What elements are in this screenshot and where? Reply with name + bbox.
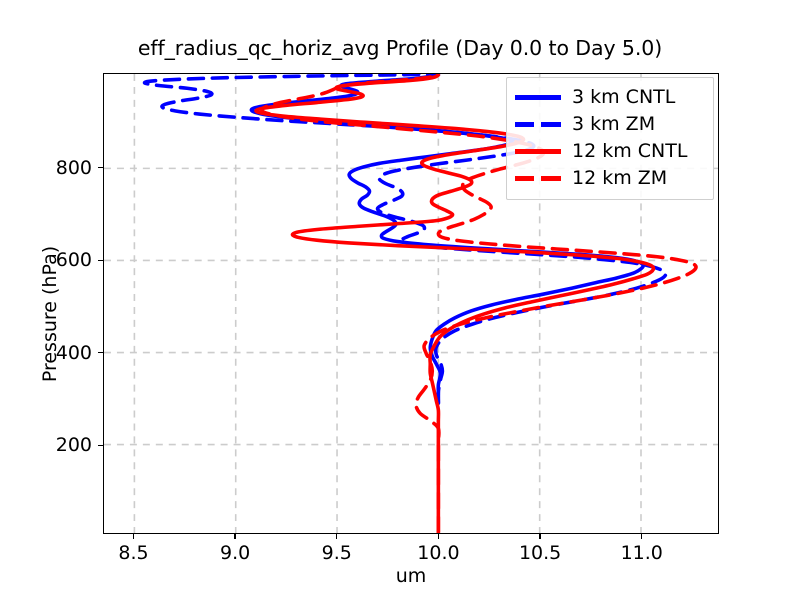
legend-swatch-icon — [515, 122, 561, 127]
x-tick-mark — [234, 534, 235, 539]
legend-item[interactable]: 12 km ZM — [515, 165, 705, 192]
x-tick-label: 10.5 — [519, 542, 561, 564]
x-tick-mark — [133, 534, 134, 539]
y-tick-label: 800 — [40, 157, 92, 179]
y-tick-label: 200 — [40, 434, 92, 456]
x-tick-label: 8.5 — [118, 542, 148, 564]
x-tick-label: 9.5 — [322, 542, 352, 564]
figure: eff_radius_qc_horiz_avg Profile (Day 0.0… — [0, 0, 800, 600]
x-tick-mark — [539, 534, 540, 539]
legend-swatch-icon — [515, 149, 561, 154]
y-axis-label: Pressure (hPa) — [39, 194, 61, 434]
x-tick-label: 11.0 — [621, 542, 663, 564]
legend-item[interactable]: 12 km CNTL — [515, 138, 705, 165]
legend-label: 3 km CNTL — [572, 88, 675, 107]
y-tick-mark — [98, 352, 103, 353]
x-tick-mark — [438, 534, 439, 539]
y-tick-mark — [98, 167, 103, 168]
legend-label: 12 km ZM — [572, 169, 667, 188]
legend-item[interactable]: 3 km CNTL — [515, 84, 705, 111]
x-tick-mark — [641, 534, 642, 539]
x-tick-mark — [336, 534, 337, 539]
legend-swatch-icon — [515, 176, 561, 181]
x-tick-label: 9.0 — [220, 542, 250, 564]
chart-title: eff_radius_qc_horiz_avg Profile (Day 0.0… — [0, 36, 800, 60]
legend-label: 12 km CNTL — [572, 142, 687, 161]
x-axis-label: um — [103, 565, 719, 587]
legend-item[interactable]: 3 km ZM — [515, 111, 705, 138]
legend-label: 3 km ZM — [572, 115, 655, 134]
legend[interactable]: 3 km CNTL3 km ZM12 km CNTL12 km ZM — [506, 77, 714, 200]
y-tick-mark — [98, 260, 103, 261]
y-tick-mark — [98, 445, 103, 446]
legend-swatch-icon — [515, 95, 561, 100]
x-tick-label: 10.0 — [417, 542, 459, 564]
